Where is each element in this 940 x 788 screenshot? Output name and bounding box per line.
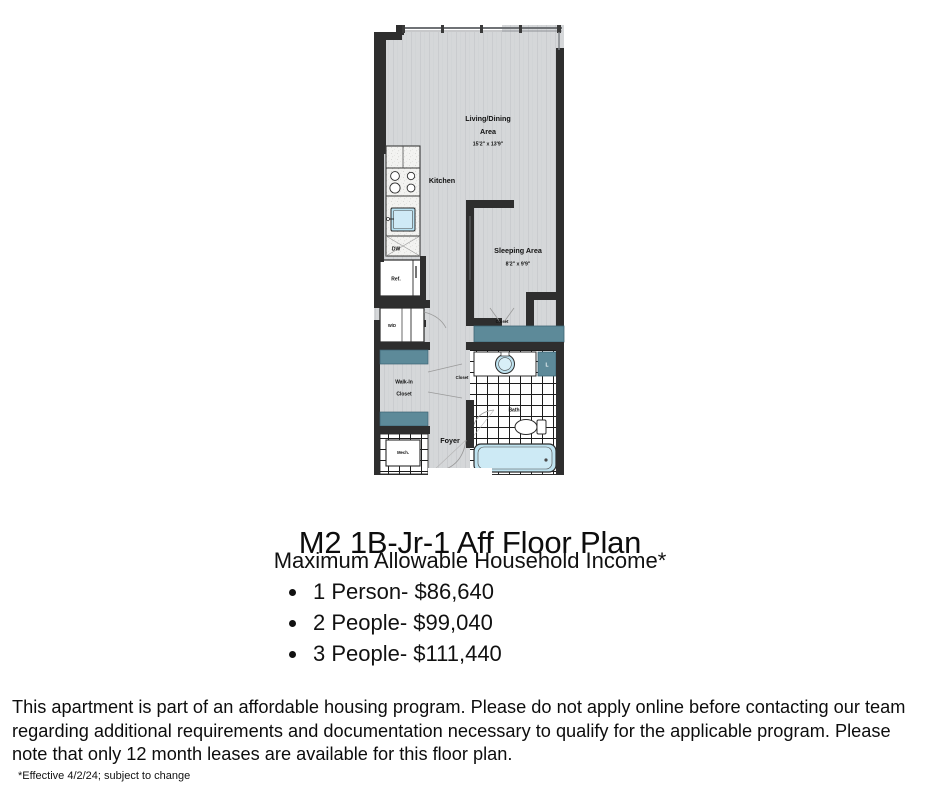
sleeping-area-dimensions: 8'2" x 9'9" (506, 261, 531, 267)
walk-in-closet-label-line1: Walk-In (395, 379, 413, 385)
disclaimer-text: This apartment is part of an affordable … (12, 696, 928, 766)
closet-shelf-lower (380, 412, 428, 426)
income-row-2-people: 2 People- $99,040 (309, 607, 502, 638)
toilet-icon (515, 420, 546, 435)
income-row-3-people: 3 People- $111,440 (309, 638, 502, 669)
kitchen-label: Kitchen (429, 176, 455, 185)
mechanical-closet: Mech. (380, 434, 428, 474)
footnote-text: *Effective 4/2/24; subject to change (18, 769, 190, 783)
foyer-label: Foyer (440, 436, 460, 445)
closet-shelf-upper (380, 350, 428, 364)
dishwasher-label: DW (392, 246, 401, 252)
sleeping-area-label: Sleeping Area (494, 246, 543, 255)
refrigerator: Ref. (380, 260, 422, 296)
floor-plan-image: DW Ref. W/D (366, 20, 576, 487)
bathroom: L Bath (466, 350, 564, 475)
income-heading: Maximum Allowable Household Income* (0, 546, 940, 575)
income-list: 1 Person- $86,640 2 People- $99,040 3 Pe… (287, 576, 502, 669)
kitchen-sink-icon (387, 208, 416, 231)
dishwasher: DW (386, 236, 420, 256)
mechanical-label: Mech. (397, 450, 409, 455)
bedroom-closet-label: Closet (496, 319, 509, 324)
bathtub-icon (474, 444, 556, 472)
washer-dryer-label: W/D (388, 323, 396, 328)
hall-closet-label: Closet (456, 375, 469, 380)
floor-plan-svg: DW Ref. W/D (366, 20, 576, 487)
living-dining-label-line2: Area (480, 127, 497, 136)
refrigerator-label: Ref. (391, 276, 401, 282)
living-dining-dimensions: 15'2" x 13'9" (473, 141, 504, 147)
linen-closet-label: L (545, 362, 548, 368)
living-dining-label-line1: Living/Dining (465, 114, 511, 123)
walk-in-closet-label-line2: Closet (396, 391, 412, 397)
income-row-1-person: 1 Person- $86,640 (309, 576, 502, 607)
bath-room-label: Bath (508, 407, 519, 413)
